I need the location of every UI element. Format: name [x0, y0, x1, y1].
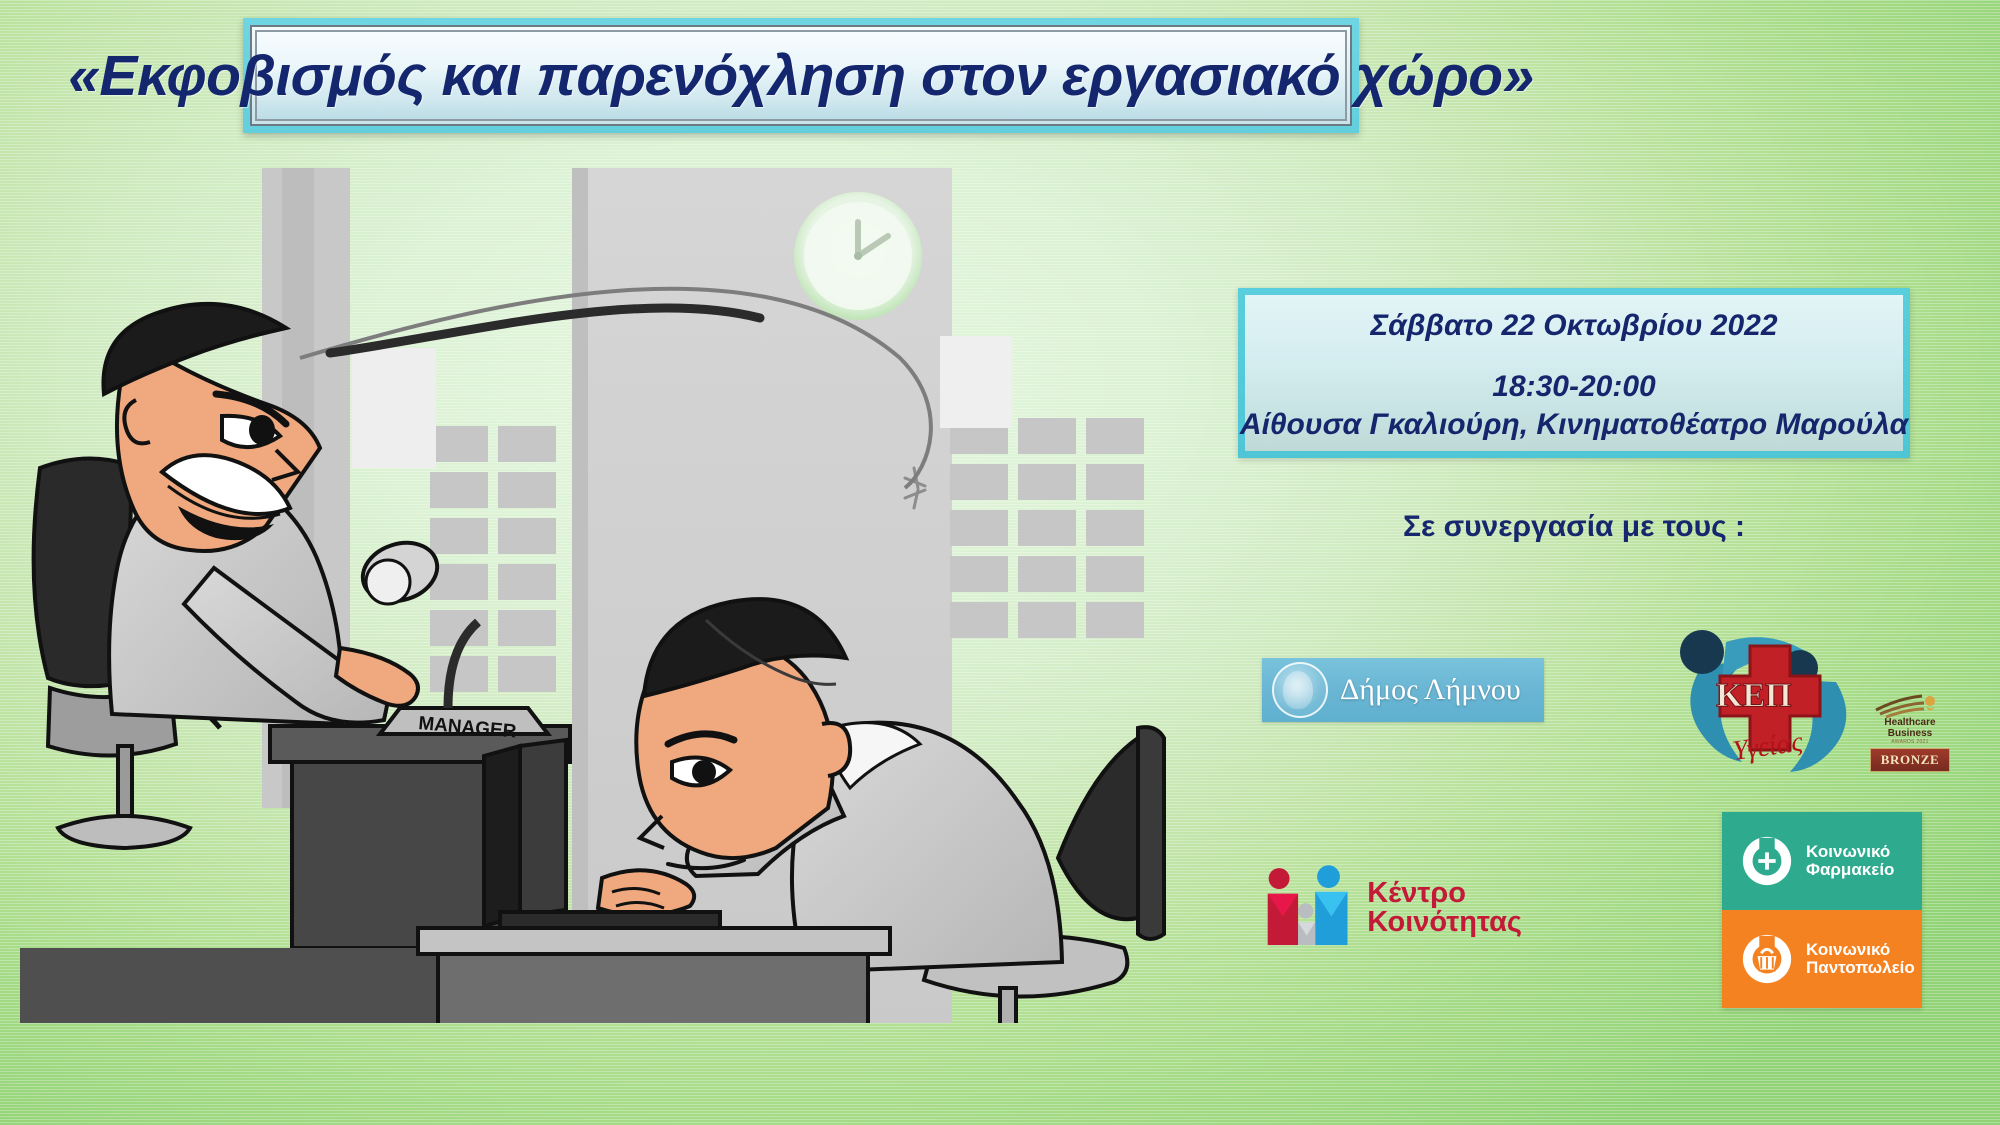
- poster-canvas: «Εκφοβισμός και παρενόχληση στον εργασια…: [0, 0, 2000, 1125]
- event-time: 18:30-20:00: [1492, 370, 1655, 404]
- dot-upper-left-icon: [1680, 630, 1724, 674]
- logo-kep-ygeias[interactable]: ΚΕΠ Υγείας: [1660, 608, 1880, 778]
- illustration-svg: MANAGER: [0, 168, 1205, 1023]
- kep-logo-svg: ΚΕΠ Υγείας: [1660, 608, 1880, 778]
- event-details-box: Σάββατο 22 Οκτωβρίου 2022 18:30-20:00 Αί…: [1238, 288, 1910, 458]
- page-title: «Εκφοβισμός και παρενόχληση στον εργασια…: [68, 43, 1534, 109]
- title-bevel-frame: «Εκφοβισμός και παρενόχληση στον εργασια…: [250, 25, 1352, 126]
- kentro-line2: Κοινότητας: [1367, 908, 1522, 937]
- kentro-text: Κέντρο Κοινότητας: [1367, 879, 1522, 937]
- event-date: Σάββατο 22 Οκτωβρίου 2022: [1370, 309, 1777, 343]
- event-details-inner: Σάββατο 22 Οκτωβρίου 2022 18:30-20:00 Αί…: [1245, 295, 1903, 451]
- healthcare-line2: Business: [1888, 729, 1932, 740]
- title-banner: «Εκφοβισμός και παρενόχληση στον εργασια…: [243, 18, 1359, 133]
- grocery-line2: Παντοπωλείο: [1806, 959, 1915, 977]
- illustration-cartoon: MANAGER: [0, 168, 1205, 1023]
- shopping-basket-icon: [1740, 932, 1794, 986]
- wing-award-icon: [1870, 692, 1950, 718]
- event-venue: Αίθουσα Γκαλιούρη, Κινηματοθέατρο Μαρούλ…: [1240, 408, 1908, 442]
- healthcare-line3: AWARDS 2021: [1891, 739, 1928, 745]
- bronze-badge: BRONZE: [1870, 748, 1950, 772]
- ygeias-label: Υγείας: [1731, 726, 1805, 767]
- logo-healthcare-bronze[interactable]: Healthcare Business AWARDS 2021 BRONZE: [1862, 692, 1958, 778]
- logo-social-services[interactable]: Κοινωνικό Φαρμακείο Κοινωνικό Παντοπωλεί…: [1722, 812, 1922, 1008]
- pharmacy-line2: Φαρμακείο: [1806, 861, 1894, 879]
- healthcare-line1: Healthcare: [1884, 718, 1935, 729]
- logo-social-grocery[interactable]: Κοινωνικό Παντοπωλείο: [1722, 910, 1922, 1008]
- kep-label: ΚΕΠ: [1716, 677, 1792, 714]
- grocery-line1: Κοινωνικό: [1806, 941, 1915, 959]
- title-inner-panel: «Εκφοβισμός και παρενόχληση στον εργασια…: [255, 30, 1347, 121]
- pharmacy-line1: Κοινωνικό: [1806, 843, 1894, 861]
- wall-clock-icon: [794, 192, 922, 320]
- collaboration-label: Σε συνεργασία με τους :: [1236, 510, 1912, 544]
- logo-dimos-limnou[interactable]: Δήμος Λήμνου: [1262, 658, 1544, 722]
- logo-dimos-label: Δήμος Λήμνου: [1340, 673, 1521, 707]
- pharmacy-cross-icon: [1740, 834, 1794, 888]
- coin-emblem-icon: [1272, 662, 1328, 718]
- family-figures-icon: [1262, 865, 1353, 951]
- bronze-label: BRONZE: [1881, 752, 1940, 768]
- logo-kentro-koinotitas[interactable]: Κέντρο Κοινότητας: [1262, 862, 1522, 954]
- logo-social-pharmacy[interactable]: Κοινωνικό Φαρμακείο: [1722, 812, 1922, 910]
- kentro-line1: Κέντρο: [1367, 879, 1522, 908]
- pharmacy-text: Κοινωνικό Φαρμακείο: [1806, 843, 1894, 880]
- grocery-text: Κοινωνικό Παντοπωλείο: [1806, 941, 1915, 978]
